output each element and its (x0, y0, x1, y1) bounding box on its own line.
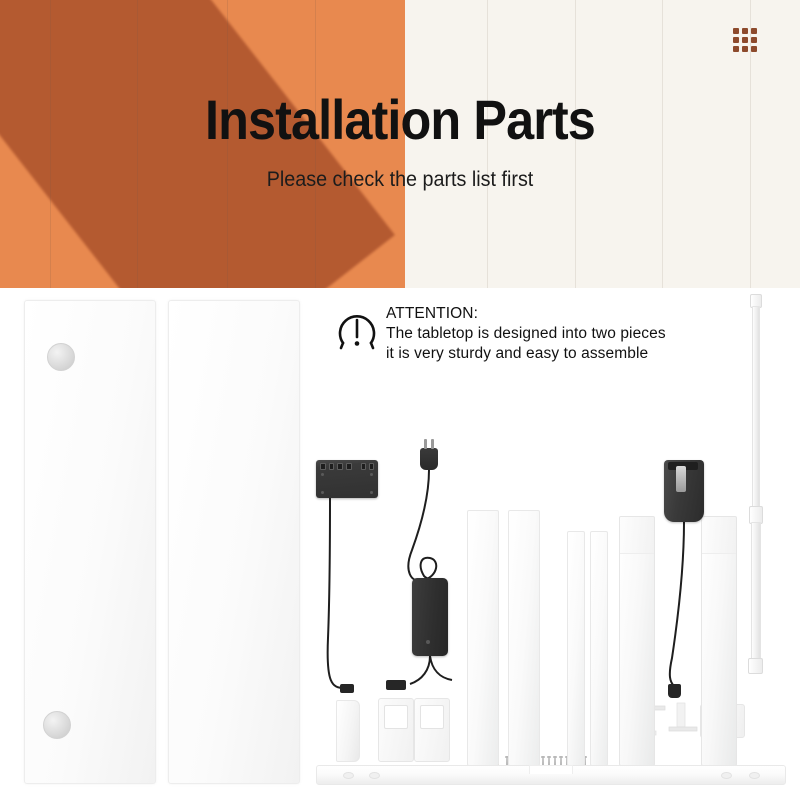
lift-column-inner (702, 517, 736, 554)
port (361, 463, 366, 470)
port (337, 463, 343, 470)
foot-plate (378, 698, 414, 762)
foot-plate-hole (420, 705, 444, 729)
power-adapter (412, 578, 448, 656)
exclamation-circle-icon (338, 310, 376, 354)
installation-parts-page: Installation Parts Please check the part… (0, 0, 800, 800)
lift-column-inner (620, 517, 654, 554)
grid-icon-cell (751, 46, 757, 52)
control-box-screw (321, 491, 324, 494)
telescoping-rod-lower (751, 522, 761, 660)
support-rail (508, 510, 540, 766)
control-box-screw (370, 473, 373, 476)
cable-connector (340, 684, 354, 693)
adapter-led (426, 640, 430, 644)
port (346, 463, 352, 470)
control-box-screw (321, 473, 324, 476)
long-crossbar (316, 765, 786, 785)
crossbar-hole (721, 772, 732, 779)
foot-plate (414, 698, 450, 762)
telescoping-rod-upper (752, 306, 760, 508)
grid-icon-cell (733, 46, 739, 52)
port (369, 463, 374, 470)
port (320, 463, 326, 470)
rod-end-cap-bottom (748, 658, 763, 674)
crossbar-hole (749, 772, 760, 779)
plug-prong (431, 439, 434, 449)
crossbar-hole (369, 772, 380, 779)
motor-slot (676, 466, 686, 492)
motor-head (664, 460, 704, 522)
t-bracket (668, 702, 698, 736)
grid-icon-cell (742, 28, 748, 34)
tabletop-panel-right (168, 300, 300, 784)
grid-icon-cell (733, 37, 739, 43)
power-plug (420, 448, 438, 470)
port (329, 463, 335, 470)
grommet-hole (47, 343, 75, 371)
grid-icon (733, 28, 757, 52)
grommet-hole (43, 711, 71, 739)
crossbar-notch (529, 765, 573, 774)
page-title: Installation Parts (40, 92, 760, 148)
header-banner: Installation Parts Please check the part… (0, 0, 800, 288)
side-rail (567, 531, 585, 766)
foot-plate-hole (384, 705, 408, 729)
grid-icon-cell (733, 28, 739, 34)
control-box-screw (370, 491, 373, 494)
grid-icon-cell (751, 37, 757, 43)
plug-prong (424, 439, 427, 449)
attention-text: ATTENTION: The tabletop is designed into… (386, 304, 666, 363)
grid-icon-cell (742, 46, 748, 52)
control-box-ports (320, 463, 374, 469)
support-rail (467, 510, 499, 766)
motor-cable-connector (668, 684, 681, 698)
parts-diagram: ATTENTION: The tabletop is designed into… (0, 288, 800, 800)
cable-connector (386, 680, 406, 690)
side-rail (590, 531, 608, 766)
lift-column-left (619, 516, 655, 766)
lift-column-right (701, 516, 737, 766)
grid-icon-cell (742, 37, 748, 43)
control-box (316, 460, 378, 498)
cable-cover (336, 700, 360, 762)
tabletop-panel-left (24, 300, 156, 784)
grid-icon-cell (751, 28, 757, 34)
page-subtitle: Please check the parts list first (24, 168, 776, 192)
crossbar-hole (343, 772, 354, 779)
